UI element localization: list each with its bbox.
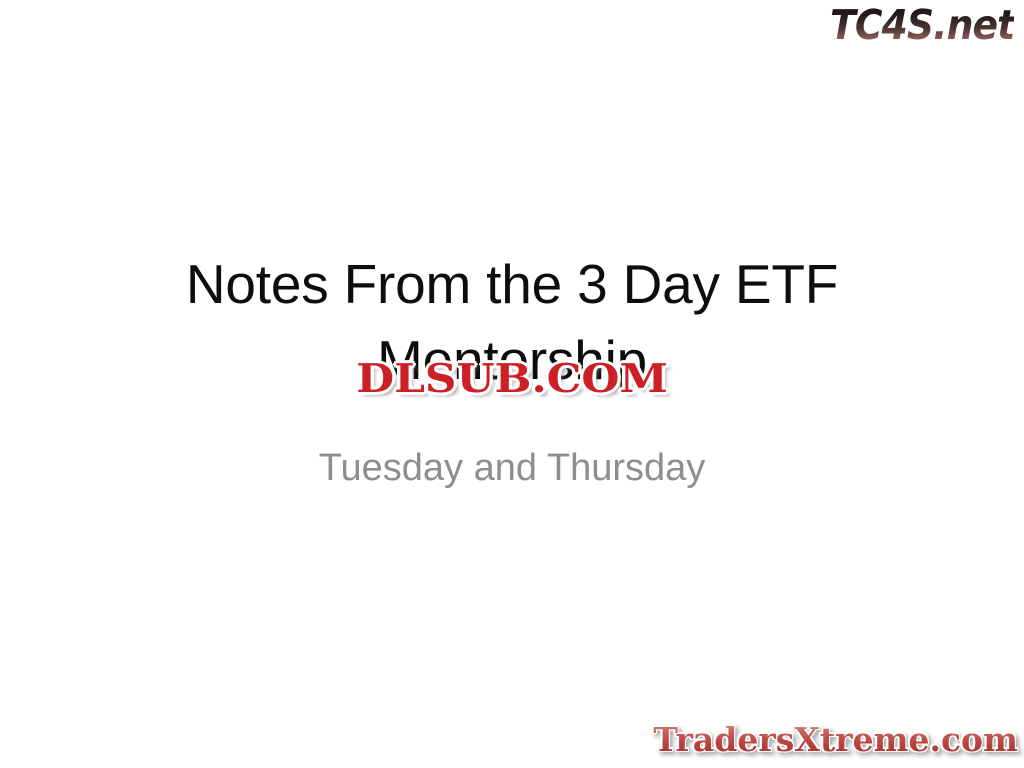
tradersxtreme-watermark-text: TradersXtreme.com: [653, 720, 1018, 760]
tradersxtreme-watermark: TradersXtreme.com: [653, 720, 1018, 760]
subtitle-placeholder: Tuesday and Thursday: [100, 444, 924, 492]
page-title: Notes From the 3 Day ETF Mentorship: [100, 246, 924, 398]
tc4s-site-logo: TC4S.net: [830, 2, 1014, 48]
title-placeholder: Notes From the 3 Day ETF Mentorship: [100, 246, 924, 398]
presentation-slide: TC4S.net Notes From the 3 Day ETF Mentor…: [0, 0, 1024, 768]
slide-subtitle: Tuesday and Thursday: [100, 444, 924, 492]
